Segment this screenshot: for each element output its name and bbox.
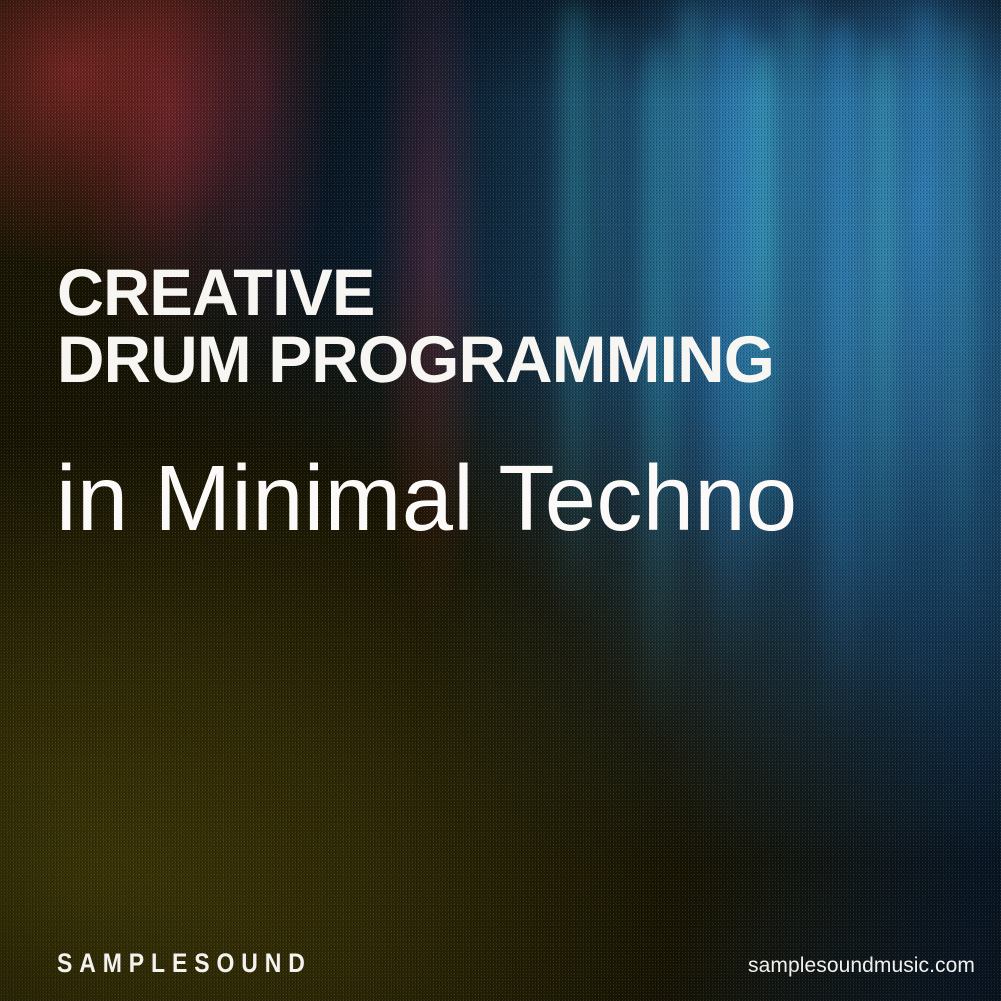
title-line-2: DRUM PROGRAMMING <box>57 329 972 391</box>
website-url[interactable]: samplesoundmusic.com <box>748 955 975 976</box>
title-line-1: CREATIVE <box>57 262 963 324</box>
page-subtitle: in Minimal Techno <box>56 452 797 545</box>
cover-artwork: CREATIVE DRUM PROGRAMMING in Minimal Tec… <box>0 0 1001 1001</box>
content-layer: CREATIVE DRUM PROGRAMMING in Minimal Tec… <box>0 0 1001 1001</box>
page-title: CREATIVE DRUM PROGRAMMING <box>57 262 977 390</box>
brand-logo-samplesound: SAMPLESOUND <box>57 951 312 978</box>
